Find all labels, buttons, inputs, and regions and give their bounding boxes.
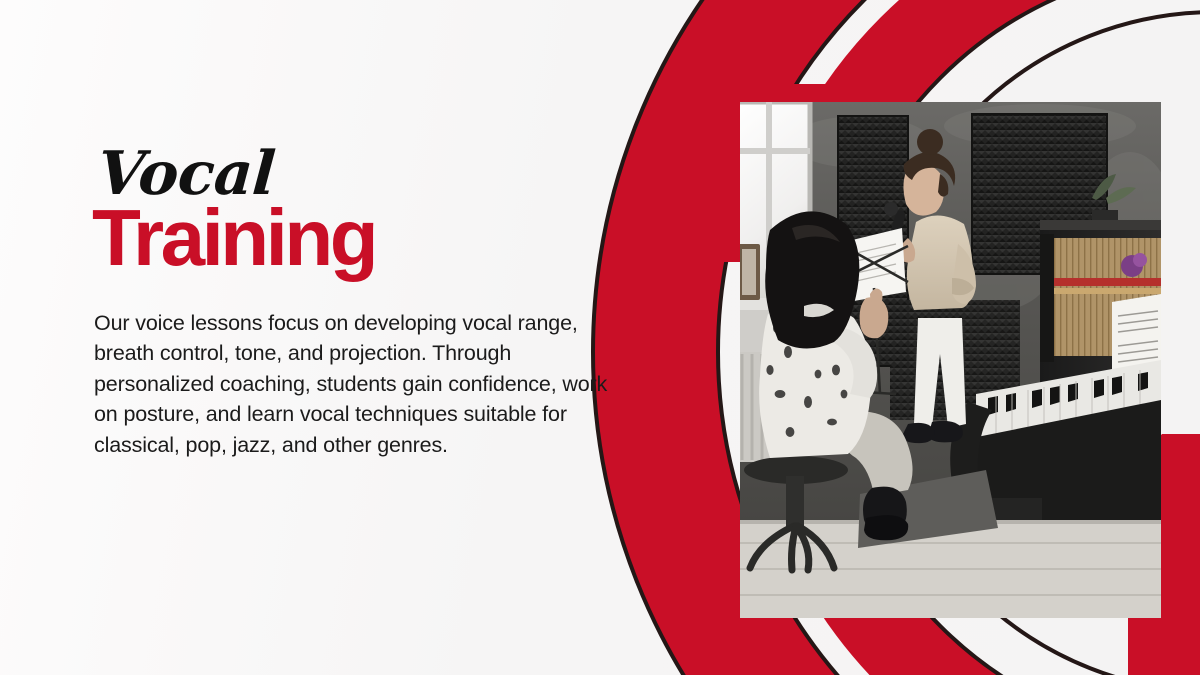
studio-photo bbox=[740, 102, 1161, 618]
slide-canvas: Vocal Training Our voice lessons focus o… bbox=[0, 0, 1200, 675]
body-paragraph: Our voice lessons focus on developing vo… bbox=[94, 308, 624, 461]
text-column: Vocal Training Our voice lessons focus o… bbox=[94, 146, 634, 460]
studio-photo-illustration bbox=[740, 102, 1161, 618]
page-title-bold: Training bbox=[92, 200, 634, 276]
page-title-script: Vocal bbox=[96, 146, 638, 204]
